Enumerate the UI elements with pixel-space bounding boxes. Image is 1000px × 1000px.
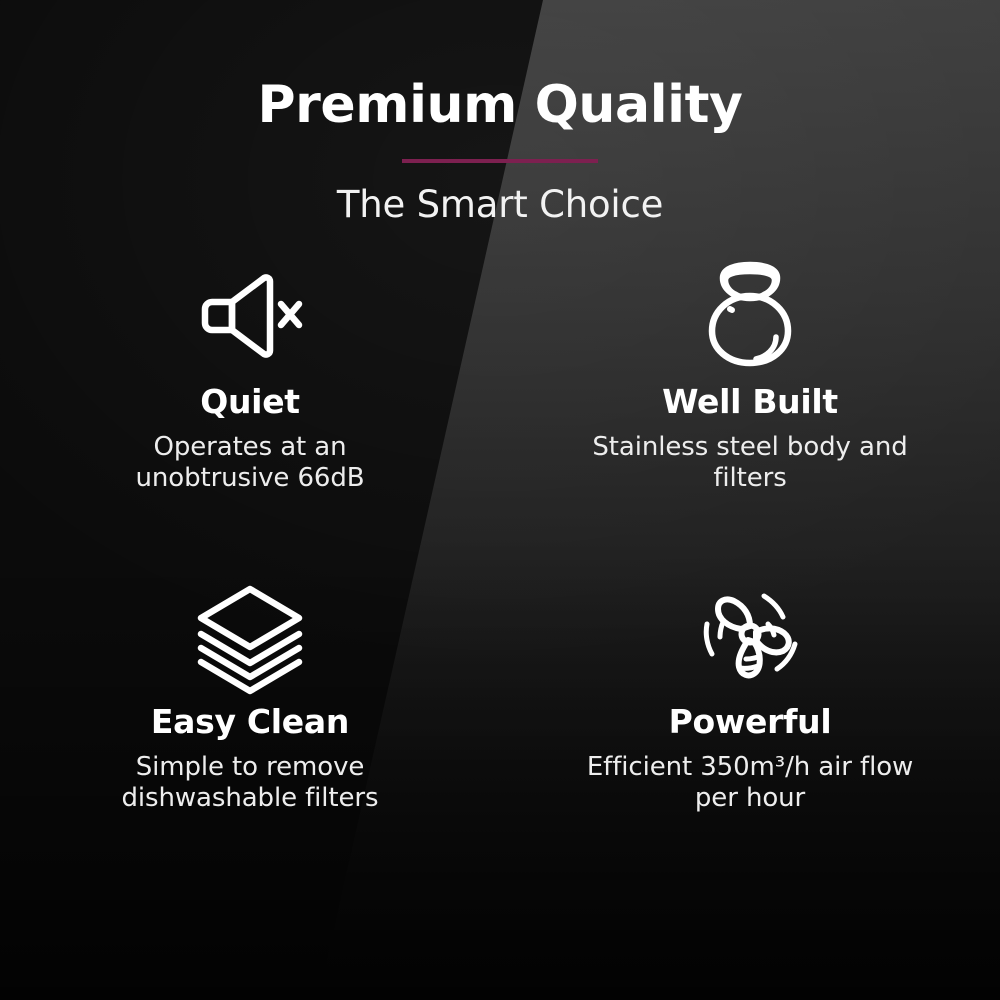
speaker-mute-icon <box>196 260 304 368</box>
layers-stack-icon <box>196 580 304 688</box>
feature-card-well-built: Well Built Stainless steel body and filt… <box>500 252 1000 572</box>
page-subtitle: The Smart Choice <box>0 185 1000 226</box>
feature-card-powerful: Powerful Efficient 350m³/h air flow per … <box>500 572 1000 892</box>
feature-title: Quiet <box>200 384 300 420</box>
accent-divider <box>402 159 598 163</box>
feature-description: Operates at an unobtrusive 66dB <box>85 432 415 493</box>
feature-description: Simple to remove dishwashable filters <box>85 752 415 813</box>
kettlebell-icon <box>696 260 804 368</box>
feature-title: Easy Clean <box>151 704 349 740</box>
feature-grid: Quiet Operates at an unobtrusive 66dB We… <box>0 252 1000 892</box>
feature-description: Stainless steel body and filters <box>585 432 915 493</box>
feature-card-quiet: Quiet Operates at an unobtrusive 66dB <box>0 252 500 572</box>
poster-header: Premium Quality The Smart Choice <box>0 78 1000 225</box>
feature-title: Well Built <box>662 384 838 420</box>
promo-poster: Premium Quality The Smart Choice Quiet O… <box>0 0 1000 1000</box>
feature-title: Powerful <box>669 704 832 740</box>
feature-description: Efficient 350m³/h air flow per hour <box>585 752 915 813</box>
fan-icon <box>696 580 804 688</box>
page-title: Premium Quality <box>0 78 1000 133</box>
feature-card-easy-clean: Easy Clean Simple to remove dishwashable… <box>0 572 500 892</box>
